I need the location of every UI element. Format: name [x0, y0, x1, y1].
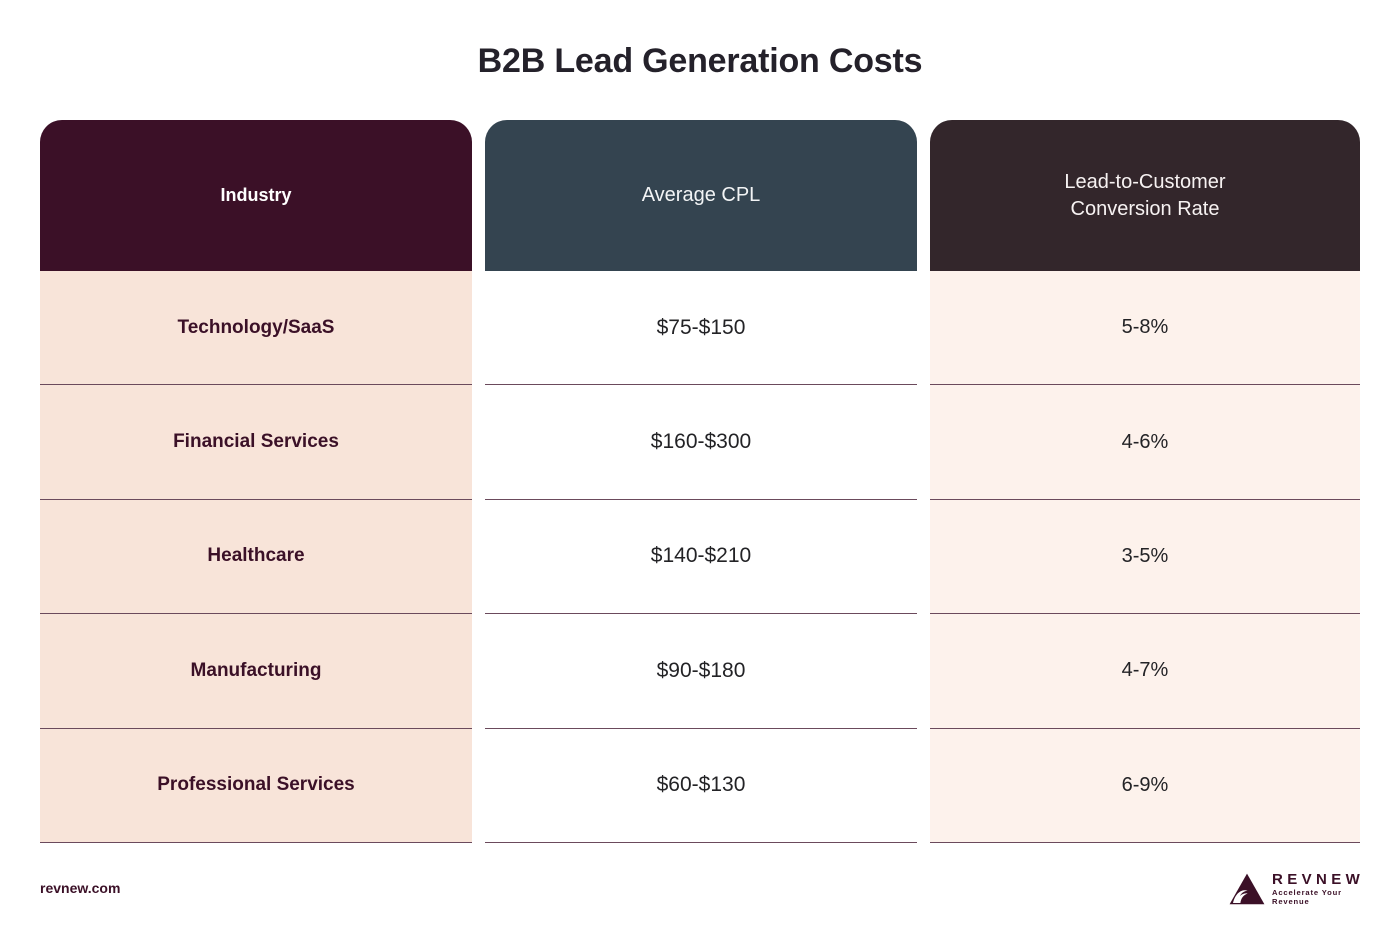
table-row: Healthcare — [40, 500, 472, 614]
table-row: Financial Services — [40, 385, 472, 499]
column-header-industry: Industry — [40, 120, 472, 271]
table-cell-conversion-rate: 4-7% — [930, 614, 1360, 728]
table-row: Professional Services — [40, 729, 472, 843]
table-column-conversion-rate: Lead-to-Customer Conversion Rate 5-8% 4-… — [930, 120, 1360, 844]
table-cell-average-cpl: $60-$130 — [485, 729, 917, 843]
table-row: Technology/SaaS — [40, 271, 472, 385]
table-column-average-cpl: Average CPL $75-$150 $160-$300 $140-$210… — [485, 120, 917, 844]
table-cell-average-cpl: $75-$150 — [485, 271, 917, 385]
data-table: Industry Technology/SaaS Financial Servi… — [40, 120, 1360, 844]
column-header-conversion-rate-line1: Lead-to-Customer — [1064, 169, 1225, 195]
table-cell-conversion-rate: 3-5% — [930, 500, 1360, 614]
column-header-conversion-rate-line2: Conversion Rate — [1064, 196, 1225, 222]
column-header-average-cpl: Average CPL — [485, 120, 917, 271]
revnew-logo: REVNEW Accelerate Your Revenue — [1228, 869, 1360, 909]
footer-website-url: revnew.com — [40, 880, 120, 896]
table-cell-conversion-rate: 5-8% — [930, 271, 1360, 385]
logo-wordmark: REVNEW — [1272, 872, 1364, 888]
column-header-conversion-rate: Lead-to-Customer Conversion Rate — [930, 120, 1360, 271]
triangle-wave-icon — [1228, 872, 1266, 906]
table-cell-conversion-rate: 4-6% — [930, 385, 1360, 499]
table-row: Manufacturing — [40, 614, 472, 728]
table-cell-average-cpl: $90-$180 — [485, 614, 917, 728]
logo-text-block: REVNEW Accelerate Your Revenue — [1272, 872, 1364, 907]
table-cell-average-cpl: $140-$210 — [485, 500, 917, 614]
page-title: B2B Lead Generation Costs — [0, 42, 1400, 81]
table-cell-conversion-rate: 6-9% — [930, 729, 1360, 843]
logo-tagline: Accelerate Your Revenue — [1272, 888, 1364, 906]
table-cell-average-cpl: $160-$300 — [485, 385, 917, 499]
table-column-industry: Industry Technology/SaaS Financial Servi… — [40, 120, 472, 844]
infographic-page: B2B Lead Generation Costs Industry Techn… — [0, 0, 1400, 946]
